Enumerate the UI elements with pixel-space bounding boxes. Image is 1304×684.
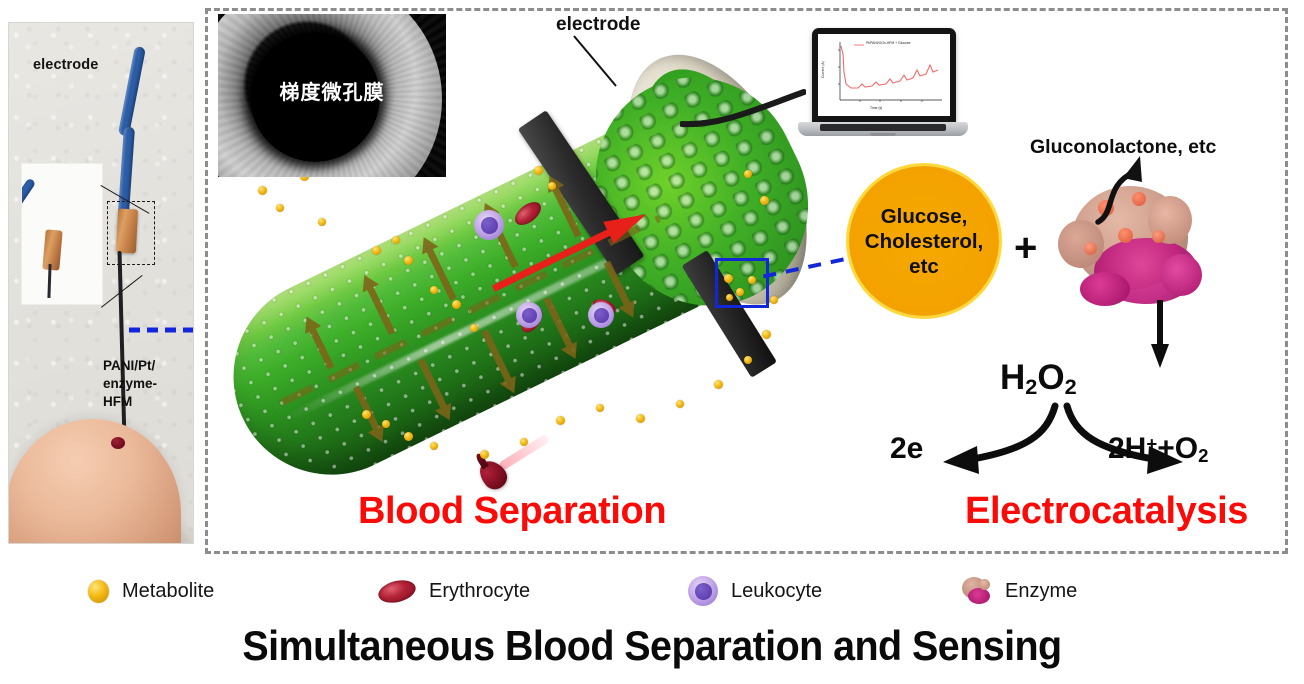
legend-row: Metabolite Erythrocyte Leukocyte Enzyme <box>88 576 1188 618</box>
metabolite-particle <box>470 324 478 332</box>
figure-footer-title: Simultaneous Blood Separation and Sensin… <box>39 622 1265 670</box>
leukocyte-particle <box>588 302 614 328</box>
metabolite-particle <box>276 204 284 212</box>
h2o2-o-sub: 2 <box>1065 374 1077 399</box>
inset-fiber-strand <box>47 264 51 298</box>
enzyme-lobe-lower-left <box>1080 272 1130 306</box>
metabolite-particle <box>392 236 400 244</box>
enzyme-residue <box>1084 242 1097 255</box>
photo-annotation-text: PANI/Pt/ enzyme- HFM <box>103 357 194 411</box>
enzyme-cluster-icon <box>960 576 992 606</box>
metabolite-particle <box>676 400 684 408</box>
photo-electrode-label: electrode <box>33 57 98 73</box>
leukocyte-particle <box>516 302 542 328</box>
legend-item-metabolite: Metabolite <box>88 580 214 603</box>
substrate-line-2: Cholesterol, <box>865 229 983 254</box>
sem-micrograph-inset: 梯度微孔膜 <box>218 14 446 177</box>
leukocyte-particle <box>474 210 504 240</box>
enzyme-residue <box>1152 230 1165 243</box>
legend-label: Enzyme <box>1005 580 1077 603</box>
legend-label: Metabolite <box>122 580 214 603</box>
legend-label: Leukocyte <box>731 580 822 603</box>
substrate-line-3: etc <box>865 254 983 279</box>
laptop-screen-bezel: Pt/PANI/GOx-HFM + Glucose Time (s) Curre… <box>812 28 956 124</box>
metabolite-particle <box>430 442 438 450</box>
metabolite-particle <box>534 166 543 175</box>
chart-legend-text: Pt/PANI/GOx-HFM + Glucose <box>866 41 911 45</box>
annotation-line-2: enzyme- <box>103 375 194 393</box>
h2o2-h: H <box>1000 358 1025 397</box>
annotation-line-3: HFM <box>103 393 194 411</box>
metabolite-particle <box>404 432 413 441</box>
metabolite-particle <box>520 438 528 446</box>
proton-oxygen-product-label: 2H++O2 <box>1108 432 1208 467</box>
product-curved-arrow-icon <box>1090 152 1180 226</box>
metabolite-particle <box>480 450 489 459</box>
metabolite-particle <box>372 246 381 255</box>
electron-product-label: 2e <box>890 432 923 466</box>
metabolite-particle <box>714 380 723 389</box>
reaction-down-arrow-icon <box>1150 300 1170 368</box>
metabolite-particle <box>744 170 752 178</box>
metabolite-particle <box>744 356 752 364</box>
metabolite-particle <box>760 196 769 205</box>
zoom-highlight-box <box>715 258 769 308</box>
laptop-illustration: Pt/PANI/GOx-HFM + Glucose Time (s) Curre… <box>798 28 968 146</box>
substrate-label: Glucose, Cholesterol, etc <box>865 204 983 279</box>
diagram-electrode-label: electrode <box>556 14 640 36</box>
yellow-sphere-icon <box>88 580 109 603</box>
electrode-leader-line <box>568 34 628 90</box>
metabolite-particle <box>362 410 371 419</box>
enzyme-icon-lobe <box>968 588 990 604</box>
laptop-keyboard <box>820 124 946 131</box>
metabolite-particle <box>258 186 267 195</box>
legend-item-enzyme: Enzyme <box>960 576 1077 606</box>
metabolite-particle <box>636 414 645 423</box>
metabolite-particle <box>404 256 413 265</box>
metabolite-particle <box>548 182 556 190</box>
metabolite-particle <box>762 330 771 339</box>
metabolite-particle <box>556 416 565 425</box>
product-o: +O <box>1157 432 1198 465</box>
metabolite-particle <box>452 300 461 309</box>
legend-item-leukocyte: Leukocyte <box>688 576 822 606</box>
annotation-line-1: PANI/Pt/ <box>103 357 194 375</box>
enzyme-lobe-lower-right <box>1160 254 1202 296</box>
laptop-cable <box>680 84 806 128</box>
electrode-closeup-inset <box>21 163 103 305</box>
inset-blue-wire <box>21 177 36 232</box>
laptop-display: Pt/PANI/GOx-HFM + Glucose Time (s) Curre… <box>818 34 950 116</box>
laptop-front-notch <box>870 133 896 136</box>
legend-label: Erythrocyte <box>429 580 530 603</box>
substrate-bubble: Glucose, Cholesterol, etc <box>849 166 999 316</box>
metabolite-particle <box>596 404 604 412</box>
section-title-blood-separation: Blood Separation <box>358 490 666 533</box>
red-blood-cell-icon <box>376 577 418 607</box>
product-o-sub: 2 <box>1198 445 1208 466</box>
section-title-electrocatalysis: Electrocatalysis <box>965 490 1248 533</box>
hydrogen-peroxide-label: H2O2 <box>1000 358 1077 400</box>
blood-droplet-on-finger <box>111 437 125 449</box>
sem-caption: 梯度微孔膜 <box>218 76 446 105</box>
metabolite-particle <box>382 420 390 428</box>
h2o2-h-sub: 2 <box>1025 374 1037 399</box>
legend-item-erythrocyte: Erythrocyte <box>378 580 530 603</box>
enzyme-residue <box>1118 228 1133 243</box>
chronoamperometry-chart <box>818 34 950 116</box>
enzyme-icon-lobe2 <box>979 579 990 590</box>
metabolite-particle <box>770 296 778 304</box>
metabolite-particle <box>430 286 438 294</box>
product-charge: + <box>1146 433 1157 454</box>
chart-x-axis-label: Time (s) <box>870 106 882 110</box>
white-blood-cell-icon <box>688 576 718 606</box>
product-2h: 2H <box>1108 432 1146 465</box>
metabolite-particle <box>318 218 326 226</box>
enzyme-lobe-left <box>1058 220 1104 268</box>
h2o2-o: O <box>1037 358 1064 397</box>
plus-operator: + <box>1014 226 1037 271</box>
inset-copper-connector <box>42 229 62 270</box>
substrate-line-1: Glucose, <box>865 204 983 229</box>
chart-y-axis-label: Current (A) <box>821 61 825 78</box>
